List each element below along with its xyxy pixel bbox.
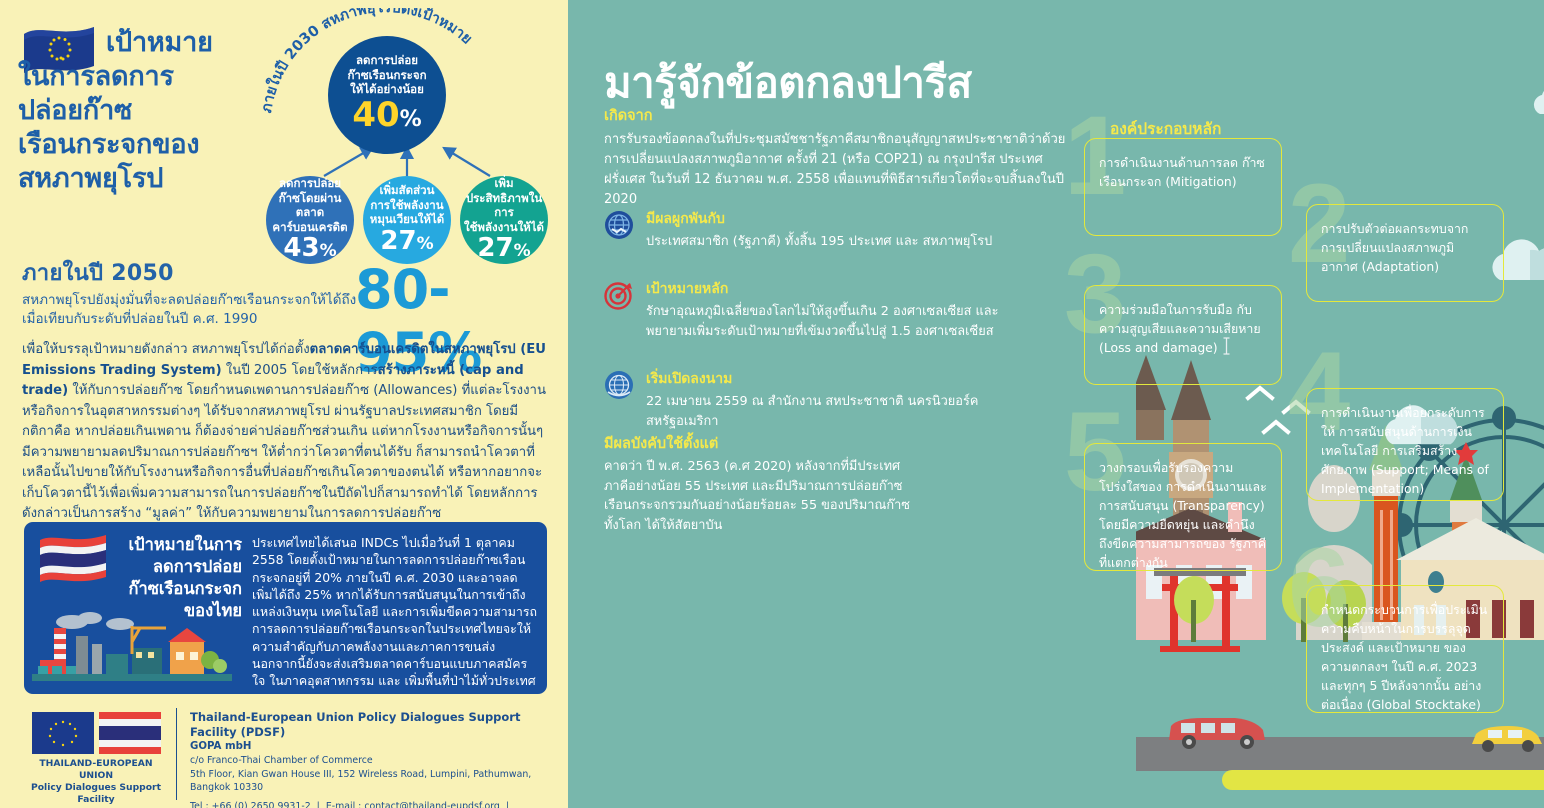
fact-item-0-desc: ประเทศสมาชิก (รัฐภาคี) ทั้งสิ้น 195 ประเ… [646,232,1034,252]
enforcement-heading: มีผลบังคับใช้ตั้งแต่ [604,432,914,455]
bubble-0-label-3: คาร์บอนเครดิต [272,220,347,234]
fact-item-1-desc: รักษาอุณหภูมิเฉลี่ยของโลกไม่ให้สูงขึ้นเก… [646,302,1034,341]
thailand-target-box: เป้าหมายในการ ลดการปล่อย ก๊าซเรือนกระจก … [24,522,547,694]
yellow-car-icon [1468,722,1544,754]
bubble-2-label-2: ประสิทธิภาพในการ [466,191,542,220]
origin-heading: เกิดจาก [604,104,1074,127]
bubble-0-label-2: ก๊าซโดยผ่านตลาด [279,191,342,220]
footer-org-sub: GOPA mbH [190,740,560,754]
factory-illustration [32,608,232,688]
component-box-2: การปรับตัวต่อผลกระทบจาก การเปลี่ยนแปลงสภ… [1306,204,1504,302]
enforcement-text: คาดว่า ปี พ.ศ. 2563 (ค.ศ 2020) หลังจากที… [604,457,914,535]
component-box-1: การดำเนินงานด้านการลด ก๊าซเรือนกระจก (Mi… [1084,138,1282,236]
infographic-page: เป้าหมาย ในการลดการ ปล่อยก๊าซ เรือนกระจก… [0,0,1544,808]
title-line-2: ในการลดการ [18,61,174,92]
thailand-box-body: ประเทศไทยได้เสนอ INDCs ไปเมื่อวันที่ 1 ต… [252,534,538,690]
bubble-1-value: 27 [380,226,416,256]
bubble-item-0: ลดการปล่อย ก๊าซโดยผ่านตลาด คาร์บอนเครดิต… [266,176,354,264]
footer-contact-block: Thailand-European Union Policy Dialogues… [190,710,560,808]
bubble-1-label-2: การใช้พลังงาน [370,198,443,212]
footer-divider [176,708,177,800]
title-line-3: ปล่อยก๊าซ [18,95,132,126]
footer-address-1: c/o Franco-Thai Chamber of Commerce [190,754,560,768]
fact-item-binding: มีผลผูกพันกับ ประเทศสมาชิก (รัฐภาคี) ทั้… [604,208,1034,252]
thailand-flag-icon [36,532,110,584]
thai-title-1: เป้าหมายในการ [128,535,242,554]
footer-sep-1: | [317,801,320,808]
component-box-6: กำหนดกระบวนการเพื่อประเมิน ความคืบหน้าใน… [1306,585,1504,713]
bubble-1-unit: % [417,234,434,254]
bubble-item-1: เพิ่มสัดส่วน การใช้พลังงาน หมุนเวียนให้ไ… [363,176,451,264]
text-cursor-icon [1222,336,1231,356]
thai-title-2: ลดการปล่อย [153,557,242,576]
target-2050-line-1: สหภาพยุโรปยังมุ่งมั่นที่จะลดปล่อยก๊าซเรื… [22,292,356,308]
origin-block: เกิดจาก การรับรองข้อตกลงในที่ประชุมสมัชช… [604,104,1074,210]
thai-title-3: ก๊าซเรือนกระจก [128,579,242,598]
bubble-main-label-1: ลดการปล่อย [356,53,418,67]
bubble-main-value: 40 [352,95,399,135]
fact-item-main-goal: เป้าหมายหลัก รักษาอุณหภูมิเฉลี่ยของโลกไม… [604,278,1034,341]
left-panel: เป้าหมาย ในการลดการ ปล่อยก๊าซ เรือนกระจก… [0,0,568,808]
footer-logo-caption-1: THAILAND-EUROPEAN UNION [39,758,152,781]
footer-tel: Tel : +66 (0) 2650 9931-2 [190,801,311,808]
footer: THAILAND-EUROPEAN UNION Policy Dialogues… [24,708,549,800]
title-line-4: เรือนกระจกของ [18,129,199,160]
bubble-main-label-2: ก๊าซเรือนกระจก [347,68,426,82]
bubble-1-label-3: หมุนเวียนให้ได้ [370,212,444,226]
title-line-1: เป้าหมาย [106,26,213,60]
fact-item-signing: เริ่มเปิดลงนาม 22 เมษายน 2559 ณ สำนักงาน… [604,368,1034,431]
cloud-icon [1530,84,1544,118]
red-van-icon [1163,712,1273,752]
bubble-main-unit: % [400,107,422,132]
bubble-1-label-1: เพิ่มสัดส่วน [380,183,435,197]
fact-item-2-title: เริ่มเปิดลงนาม [646,368,1034,390]
globe-handshake-icon [604,210,634,240]
fact-item-1-title: เป้าหมายหลัก [646,278,1034,300]
bubble-2-label-3: ใช้พลังงานให้ได้ [464,220,544,234]
bottom-yellow-bar [1222,770,1544,790]
footer-email[interactable]: E-mail : contact@thailand-eupdsf.org [326,801,500,808]
bubble-0-label-1: ลดการปล่อย [279,176,341,190]
component-box-4: การดำเนินงานเพื่อยกระดับการให้ การสนับสน… [1306,388,1504,501]
emission-target-bubbles: ภายในปี 2030 สหภาพยุโรปตั้งเป้าหมาย ลดกา… [246,8,568,270]
bubble-main-40: ลดการปล่อย ก๊าซเรือนกระจก ให้ได้อย่างน้อ… [328,36,446,154]
origin-text: การรับรองข้อตกลงในที่ประชุมสมัชชารัฐภาคี… [604,130,1074,210]
ets-paragraph: เพื่อให้บรรลุเป้าหมายดังกล่าว สหภาพยุโรป… [22,340,547,525]
united-nations-icon [604,370,634,400]
target-2050-line-2: เมื่อเทียบกับระดับที่ปล่อยในปี ค.ศ. 1990 [22,311,257,327]
footer-logo-caption-2: Policy Dialogues Support Facility [31,782,161,805]
footer-logo-block: THAILAND-EUROPEAN UNION Policy Dialogues… [24,708,168,808]
eu-flag-small-icon [32,712,94,754]
target-dart-icon [604,280,634,310]
title-line-5: สหภาพยุโรป [18,163,163,194]
enforcement-block: มีผลบังคับใช้ตั้งแต่ คาดว่า ปี พ.ศ. 2563… [604,432,914,535]
fact-item-2-desc: 22 เมษายน 2559 ณ สำนักงาน สหประชาชาติ นค… [646,392,1034,431]
bubble-2-label-1: เพิ่ม [494,176,513,190]
footer-address-2: 5th Floor, Kian Gwan House III, 152 Wire… [190,768,560,795]
thailand-flag-small-icon [99,712,161,754]
target-2050-heading: ภายในปี 2050 [22,255,357,290]
target-2050-block: ภายในปี 2050 สหภาพยุโรปยังมุ่งมั่นที่จะล… [22,255,357,329]
component-box-3: ความร่วมมือในการรับมือ กับความสูญเสียและ… [1084,285,1282,385]
footer-org-name: Thailand-European Union Policy Dialogues… [190,710,560,740]
footer-sep-2: | [506,801,509,808]
bubble-item-2: เพิ่ม ประสิทธิภาพในการ ใช้พลังงานให้ได้ … [460,176,548,264]
component-box-5: วางกรอบเพื่อรับรองความโปร่งใสของ การดำเน… [1084,443,1282,571]
fact-item-0-title: มีผลผูกพันกับ [646,208,1034,230]
page-title: เป้าหมาย ในการลดการ ปล่อยก๊าซ เรือนกระจก… [18,26,268,196]
